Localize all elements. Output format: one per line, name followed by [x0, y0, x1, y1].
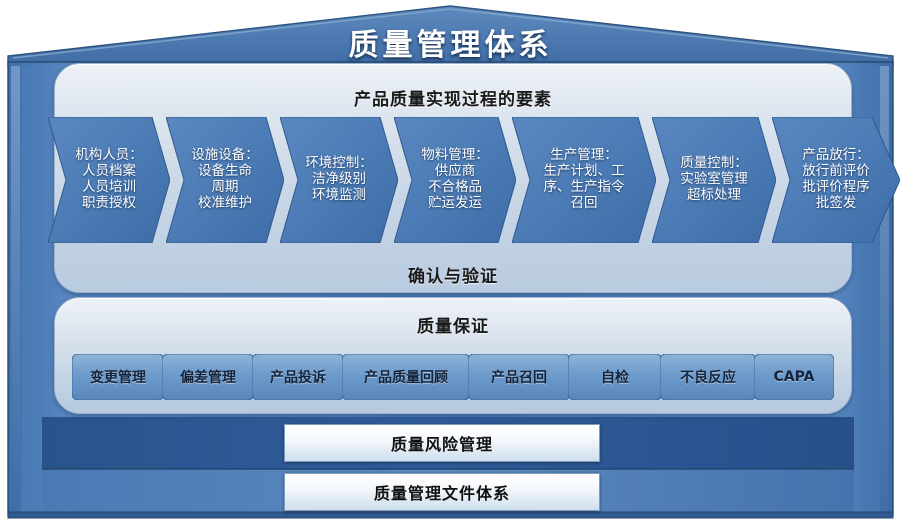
- qa-item-label: CAPA: [774, 369, 815, 385]
- qa-item-label: 不良反应: [680, 367, 736, 387]
- qa-item-label: 产品召回: [491, 367, 547, 387]
- chevron-step-7[interactable]: 产品放行： 放行前评价 批评价程序 批签发: [772, 117, 900, 243]
- qa-item-label: 自检: [601, 367, 629, 387]
- qa-item-change-control[interactable]: 变更管理: [72, 354, 164, 400]
- chevron-label: 质量控制： 实验室管理 超标处理: [680, 156, 748, 203]
- qa-item-adverse-reaction[interactable]: 不良反应: [660, 354, 756, 400]
- chevron-label: 设施设备： 设备生命 周期 校准维护: [191, 148, 259, 211]
- chevron-label: 物料管理： 供应商 不合格品 贮运发运: [421, 148, 489, 211]
- qa-item-product-quality-review[interactable]: 产品质量回顾: [342, 354, 470, 400]
- elements-panel-title: 产品质量实现过程的要素: [55, 85, 851, 110]
- chevron-label: 环境控制： 洁净级别 环境监测: [305, 156, 373, 203]
- chevron-step-1[interactable]: 机构人员： 人员档案 人员培训 职责授权: [48, 117, 170, 243]
- qa-item-capa[interactable]: CAPA: [754, 354, 834, 400]
- chevron-step-4[interactable]: 物料管理： 供应商 不合格品 贮运发运: [394, 117, 516, 243]
- quality-assurance-item-row: 变更管理 偏差管理 产品投诉 产品质量回顾 产品召回: [72, 354, 834, 400]
- qa-item-self-inspection[interactable]: 自检: [568, 354, 662, 400]
- chevron-step-6[interactable]: 质量控制： 实验室管理 超标处理: [652, 117, 776, 243]
- chevron-label: 产品放行： 放行前评价 批评价程序 批签发: [802, 148, 870, 211]
- confirmation-validation-label: 确认与验证: [55, 262, 851, 287]
- qa-item-label: 产品投诉: [270, 367, 326, 387]
- process-chevron-row: 机构人员： 人员档案 人员培训 职责授权 设施设备： 设备生命 周期 校准维护 …: [48, 117, 860, 243]
- chevron-step-2[interactable]: 设施设备： 设备生命 周期 校准维护: [166, 117, 284, 243]
- qa-item-label: 产品质量回顾: [364, 367, 448, 387]
- chevron-step-5[interactable]: 生产管理： 生产计划、工 序、生产指令 召回: [512, 117, 656, 243]
- quality-assurance-title: 质量保证: [55, 312, 851, 337]
- qa-item-recall[interactable]: 产品召回: [468, 354, 570, 400]
- qa-item-label: 偏差管理: [180, 367, 236, 387]
- qa-item-deviation[interactable]: 偏差管理: [162, 354, 254, 400]
- chevron-label: 生产管理： 生产计划、工 序、生产指令 召回: [544, 148, 625, 211]
- quality-documentation-system-bar[interactable]: 质量管理文件体系: [284, 473, 600, 511]
- quality-risk-management-bar[interactable]: 质量风险管理: [284, 424, 600, 462]
- qa-item-complaint[interactable]: 产品投诉: [252, 354, 344, 400]
- diagram-title: 质量管理体系: [0, 20, 901, 64]
- chevron-label: 机构人员： 人员档案 人员培训 职责授权: [75, 148, 143, 211]
- chevron-step-3[interactable]: 环境控制： 洁净级别 环境监测: [280, 117, 398, 243]
- qa-item-label: 变更管理: [90, 367, 146, 387]
- diagram-canvas: 质量管理体系 产品质量实现过程的要素 确认与验证 机构人员： 人员档案 人员培训…: [0, 0, 901, 523]
